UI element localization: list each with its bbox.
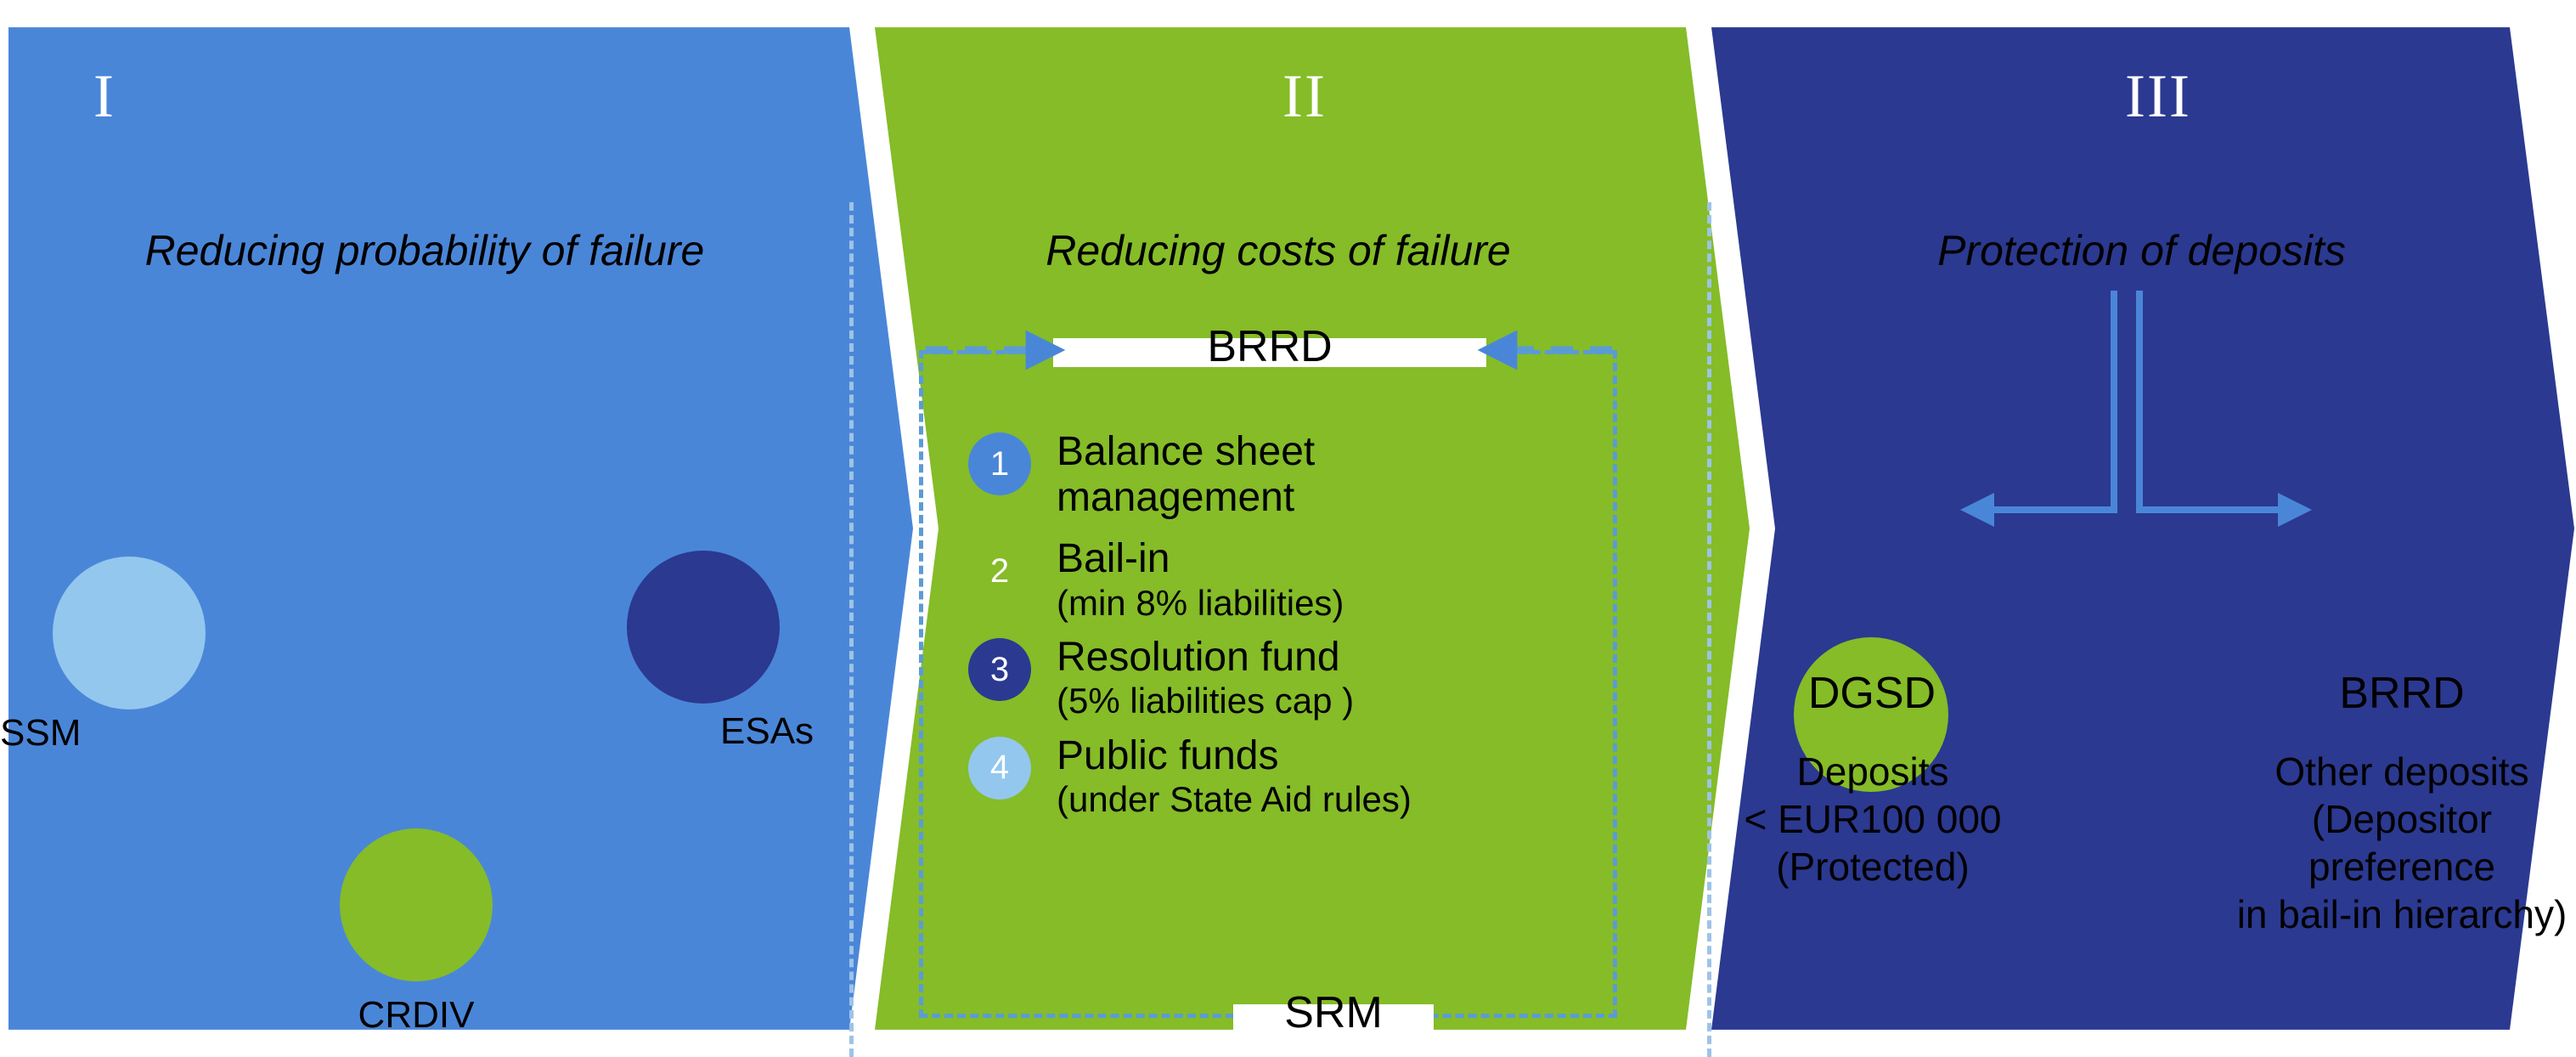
step-badge-3: 3: [968, 638, 1031, 701]
list-item-main: Balance sheet: [1057, 429, 1614, 475]
step-badge-2: 2: [968, 540, 1031, 602]
list-item-main: Bail-in: [1057, 536, 1614, 582]
cycle-arrow-bottom-left-down: [178, 858, 333, 930]
list-item: 3 Resolution fund (5% liabilities cap ): [968, 635, 1614, 721]
node-label-esas: ESAs: [720, 712, 814, 751]
dgsd-line-3: (Protected): [1727, 843, 2019, 890]
brrd-line-3: preference: [2213, 843, 2576, 890]
column-heading-one: Reducing probability of failure: [0, 228, 849, 274]
cycle-arrow-top-right: [433, 474, 712, 551]
step-numeral-1: I: [93, 65, 116, 127]
step-badge-1: 1: [968, 432, 1031, 495]
dgsd-title: DGSD: [1795, 671, 1949, 715]
brrd-description: Other deposits (Depositor preference in …: [2213, 748, 2576, 938]
cycle-arrow-bottom-left-up: [127, 719, 178, 858]
list-item-text: Bail-in (min 8% liabilities): [1057, 536, 1614, 623]
brrd-line-1: Other deposits: [2213, 748, 2576, 795]
cycle-arrow-bottom-right-up: [656, 714, 703, 860]
brrd-line-2: (Depositor: [2213, 795, 2576, 843]
node-label-ssm: SSM: [0, 714, 81, 753]
column-separator-right: [1707, 202, 1711, 1057]
node-circle-ssm: [53, 557, 206, 709]
cycle-arrow-top-left: [141, 474, 433, 558]
deposit-arrow-left: [1970, 291, 2114, 510]
list-item-sub: (under State Aid rules): [1057, 779, 1614, 819]
list-item-text: Public funds (under State Aid rules): [1057, 733, 1614, 820]
column-heading-three: Protection of deposits: [1707, 228, 2576, 274]
step-numeral-2: II: [1282, 65, 1327, 127]
dgsd-line-2: < EUR100 000: [1727, 795, 2019, 843]
list-item-text: Resolution fund (5% liabilities cap ): [1057, 635, 1614, 721]
list-item: 1 Balance sheet management: [968, 429, 1614, 521]
list-item-main: Public funds: [1057, 733, 1614, 779]
dgsd-line-1: Deposits: [1727, 748, 2019, 795]
step-numeral-3: III: [2125, 65, 2191, 127]
node-label-crdiv: CRDIV: [340, 996, 493, 1035]
brrd-title: BRRD: [2325, 671, 2479, 715]
node-circle-esas: [627, 551, 780, 704]
dgsd-description: Deposits < EUR100 000 (Protected): [1727, 748, 2019, 890]
list-item: 2 Bail-in (min 8% liabilities): [968, 536, 1614, 623]
resolution-steps-list: 1 Balance sheet management 2 Bail-in (mi…: [968, 429, 1614, 820]
brrd-box-title: BRRD: [1053, 325, 1486, 369]
node-circle-crdiv: [340, 828, 493, 981]
list-item-sub: (5% liabilities cap ): [1057, 681, 1614, 721]
list-item-sub: (min 8% liabilities): [1057, 583, 1614, 623]
list-item-main: Resolution fund: [1057, 635, 1614, 681]
list-item: 4 Public funds (under State Aid rules): [968, 733, 1614, 820]
deposit-arrow-right: [2139, 291, 2302, 510]
list-item-main-2: management: [1057, 475, 1614, 521]
cycle-arrow-bottom-right-down: [501, 860, 656, 930]
list-item-text: Balance sheet management: [1057, 429, 1614, 521]
brrd-line-4: in bail-in hierarchy): [2213, 890, 2576, 938]
column-separator-left: [849, 202, 854, 1057]
diagram-canvas: I II III Reducing probability of failure…: [0, 0, 2576, 1057]
step-badge-4: 4: [968, 737, 1031, 800]
srm-box-title: SRM: [1208, 991, 1459, 1035]
column-heading-two: Reducing costs of failure: [849, 228, 1707, 274]
